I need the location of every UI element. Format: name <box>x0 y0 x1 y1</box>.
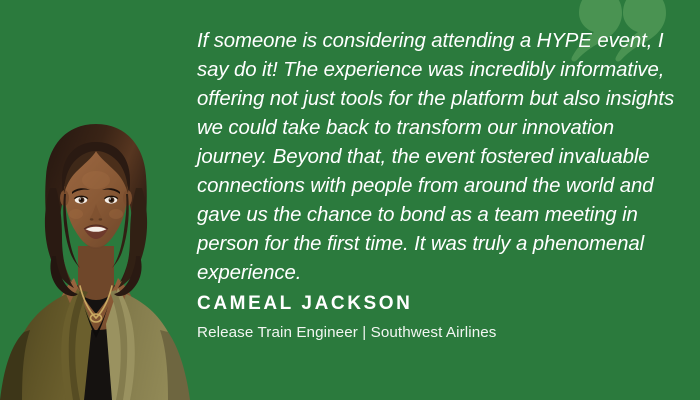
person-role: Release Train Engineer | Southwest Airli… <box>197 322 497 343</box>
avatar <box>0 118 190 400</box>
person-name: CAMEAL JACKSON <box>197 292 497 316</box>
testimonial-card: If someone is considering attending a HY… <box>0 0 700 400</box>
attribution: CAMEAL JACKSON Release Train Engineer | … <box>197 292 497 343</box>
quote-text: If someone is considering attending a HY… <box>197 27 677 288</box>
